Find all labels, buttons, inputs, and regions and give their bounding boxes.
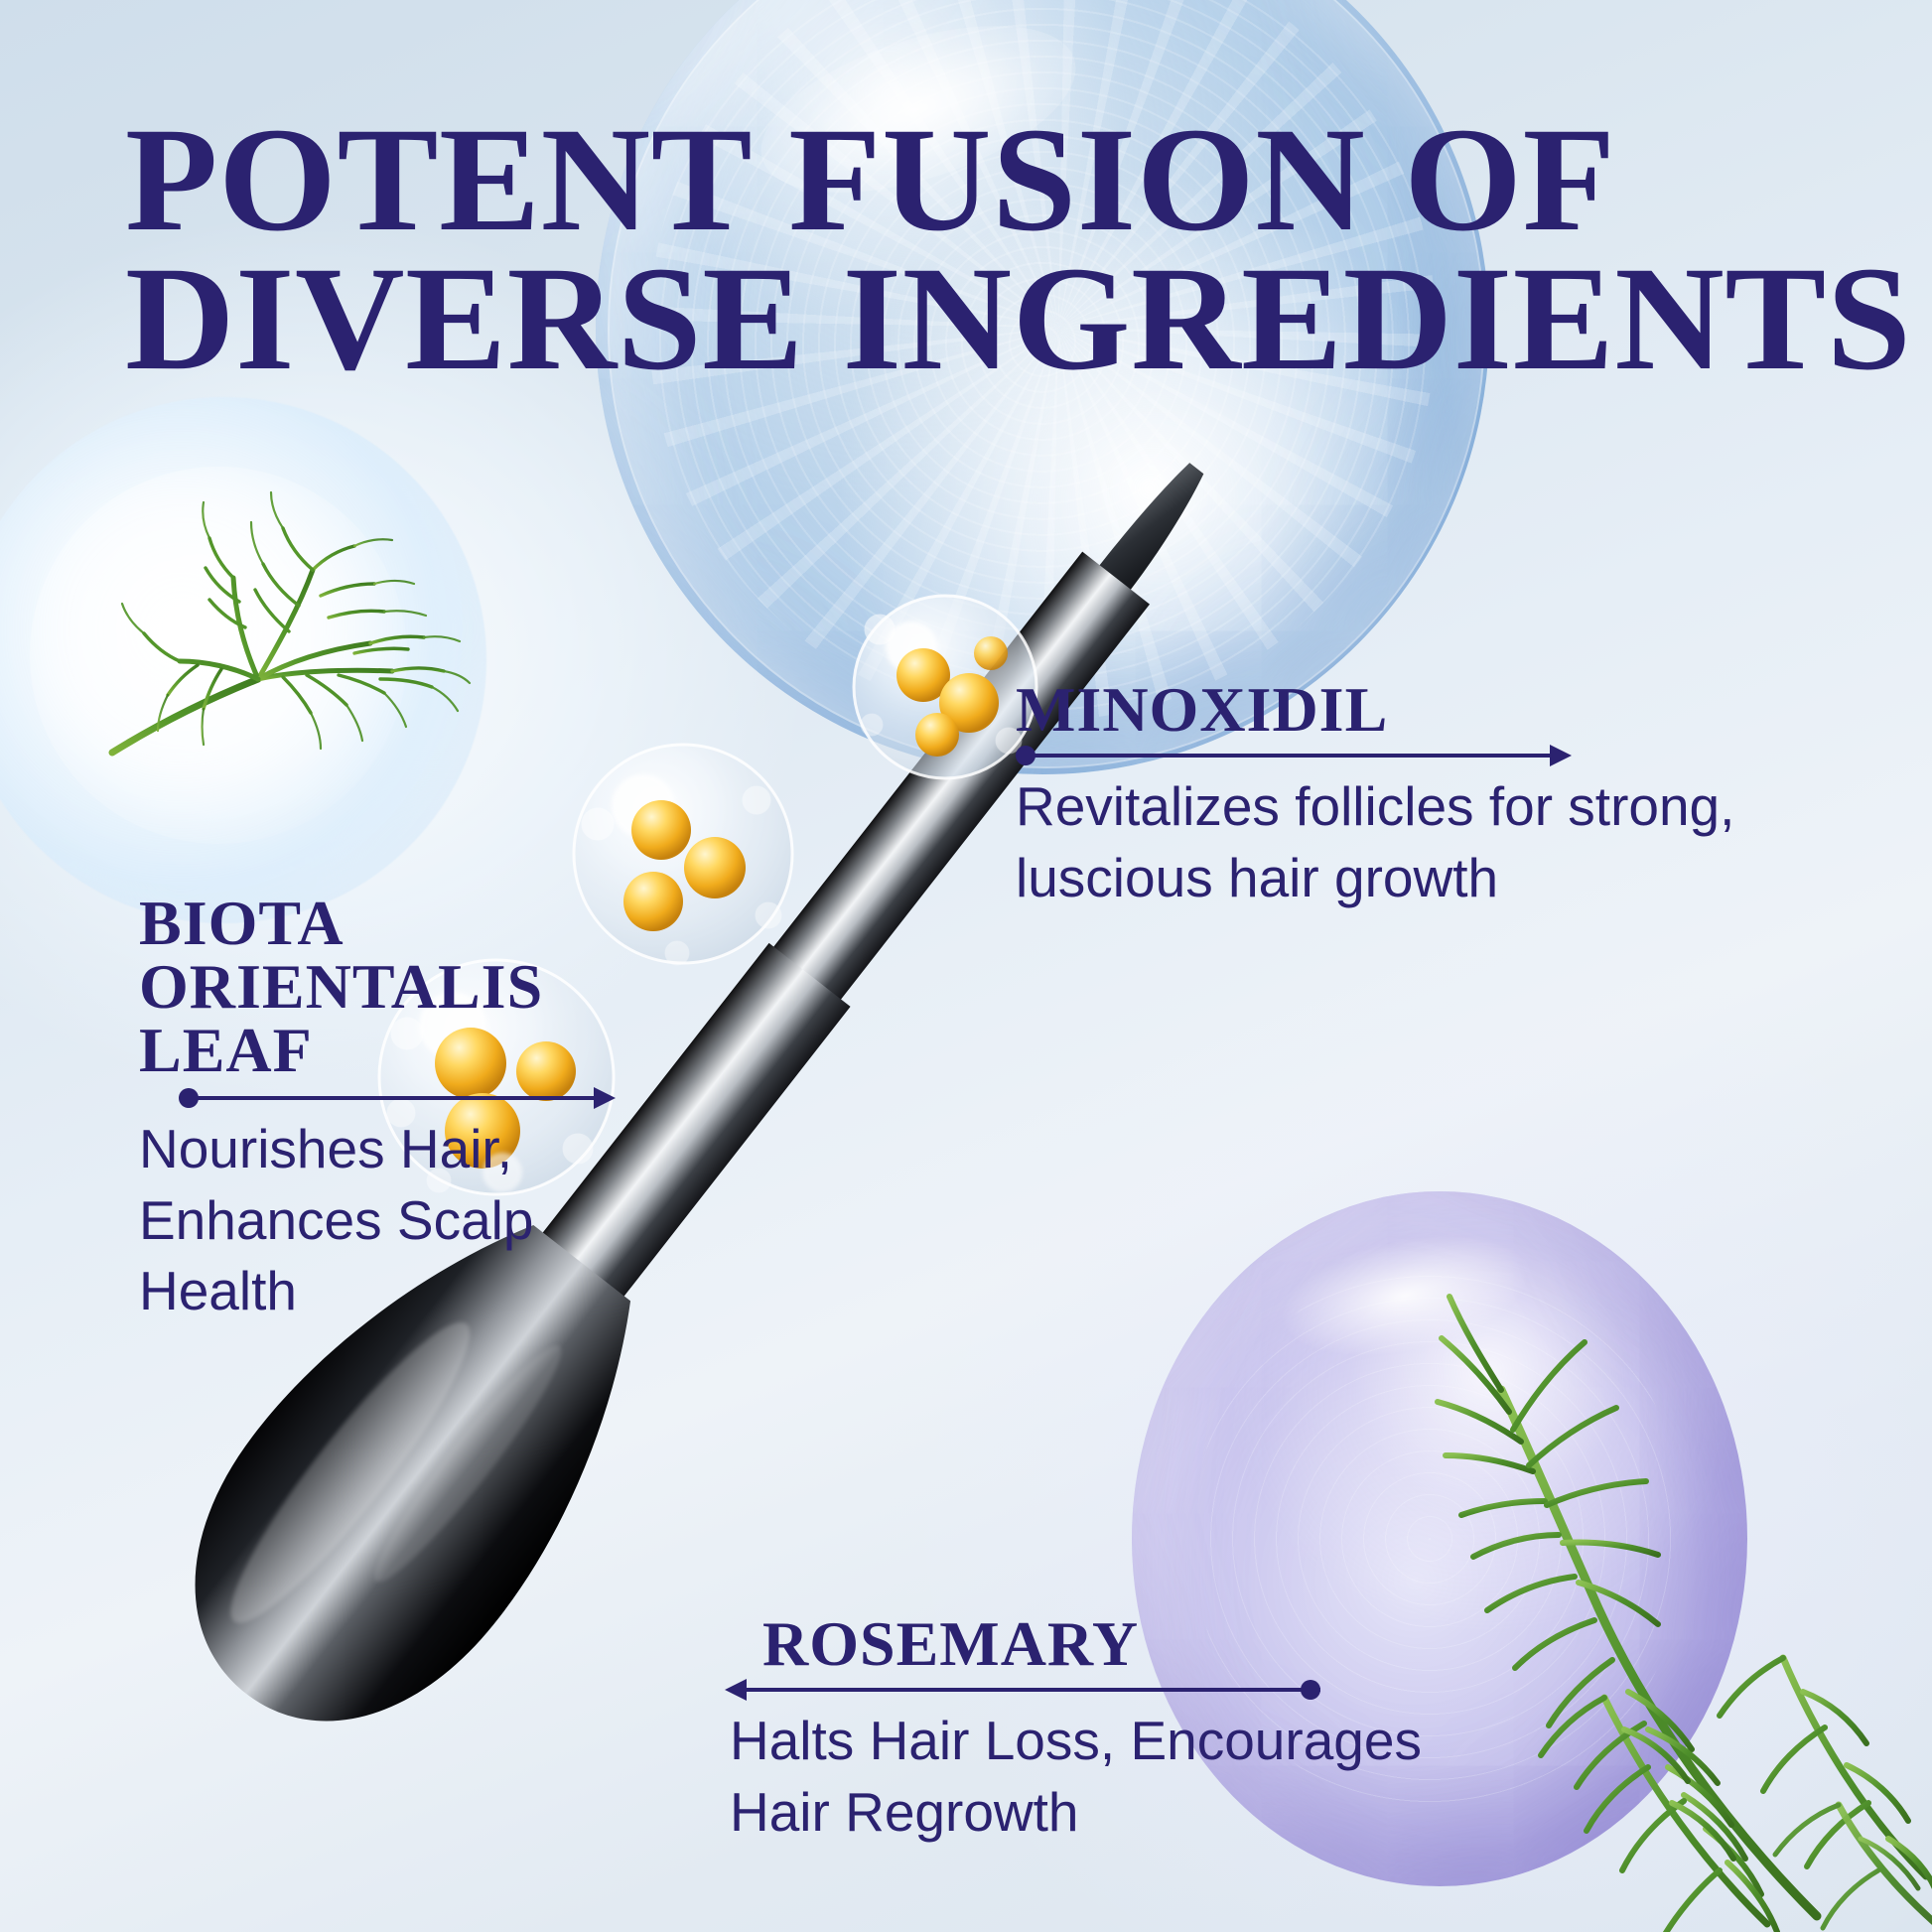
biota-orientalis-leaf-icon bbox=[94, 467, 472, 764]
callout-rosemary-body: Halts Hair Loss, Encourages Hair Regrowt… bbox=[730, 1706, 1544, 1848]
white-glow-sphere-core bbox=[30, 467, 407, 844]
promo-image-canvas: POTENT FUSION OF DIVERSE INGREDIENTS MIN… bbox=[0, 0, 1932, 1932]
callout-minoxidil: MINOXIDIL Revitalizes follicles for stro… bbox=[1016, 678, 1840, 913]
headline: POTENT FUSION OF DIVERSE INGREDIENTS bbox=[125, 111, 1932, 388]
arrow-line bbox=[747, 1688, 1320, 1692]
white-glow-sphere bbox=[0, 397, 486, 923]
callout-biota-body: Nourishes Hair, Enhances Scalp Health bbox=[139, 1114, 774, 1327]
arrow-dot-icon bbox=[1301, 1680, 1320, 1700]
arrow-line bbox=[189, 1096, 594, 1100]
callout-minoxidil-body: Revitalizes follicles for strong, luscio… bbox=[1016, 771, 1840, 913]
arrow-head-left-icon bbox=[725, 1679, 747, 1701]
callout-biota-title: BIOTA ORIENTALIS LEAF bbox=[139, 892, 774, 1082]
callout-minoxidil-title: MINOXIDIL bbox=[1016, 678, 1840, 742]
arrow-line bbox=[1026, 754, 1550, 758]
callout-biota-arrow bbox=[139, 1084, 616, 1110]
callout-minoxidil-arrow bbox=[1016, 742, 1572, 767]
callout-biota-orientalis-leaf: BIOTA ORIENTALIS LEAF Nourishes Hair, En… bbox=[139, 892, 774, 1327]
purple-sphere-glare bbox=[1272, 1216, 1537, 1375]
arrow-head-right-icon bbox=[594, 1087, 616, 1109]
arrow-head-right-icon bbox=[1550, 745, 1572, 766]
callout-rosemary: ROSEMARY Halts Hair Loss, Encourages Hai… bbox=[730, 1612, 1544, 1848]
callout-rosemary-arrow bbox=[725, 1676, 1320, 1702]
callout-rosemary-title: ROSEMARY bbox=[730, 1612, 1544, 1676]
